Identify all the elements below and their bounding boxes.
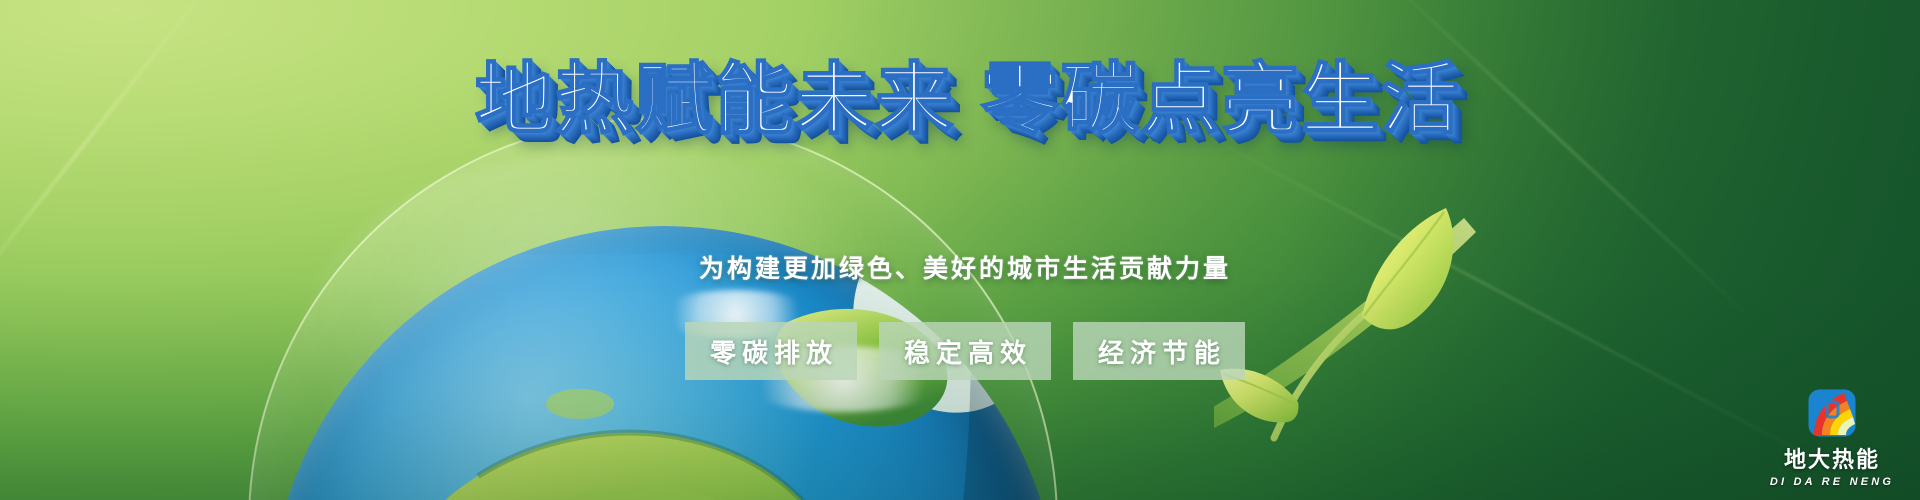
brand-logo[interactable]: 地大热能 DI DA RE NENG: [1752, 388, 1912, 496]
hero-banner: 地热赋能未来零碳点亮生活 为构建更加绿色、美好的城市生活贡献力量 零碳排放 稳定…: [0, 0, 1920, 500]
feature-tag-stable-efficient[interactable]: 稳定高效: [879, 322, 1051, 380]
logo-name-en: DI DA RE NENG: [1770, 476, 1894, 488]
feature-tag-list: 零碳排放 稳定高效 经济节能: [0, 322, 1920, 380]
logo-name-cn: 地大热能: [1784, 442, 1880, 474]
feature-tag-zero-carbon[interactable]: 零碳排放: [685, 322, 857, 380]
title-part-2: 零碳点亮生活: [981, 55, 1461, 143]
page-subtitle: 为构建更加绿色、美好的城市生活贡献力量: [0, 249, 1920, 285]
title-part-1: 地热赋能未来: [475, 55, 955, 143]
feature-tag-economical[interactable]: 经济节能: [1073, 322, 1245, 380]
dida-reneng-rainbow-mark: [1807, 388, 1857, 438]
page-title: 地热赋能未来零碳点亮生活: [0, 60, 1920, 138]
